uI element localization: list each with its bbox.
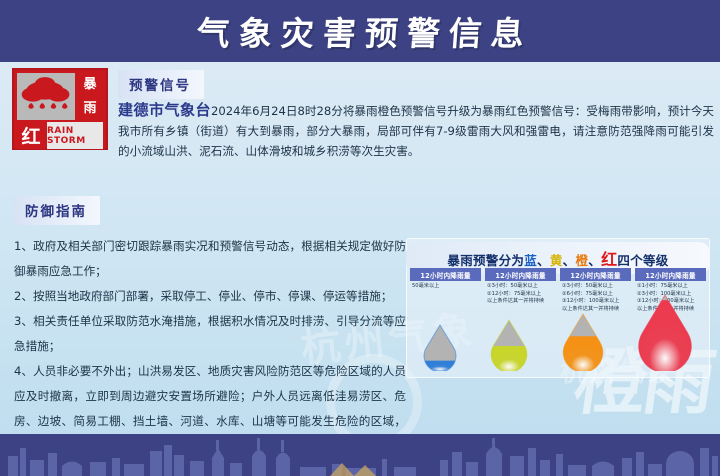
city-skyline-footer bbox=[0, 434, 720, 476]
rainstorm-warning-icon: 暴 雨 红 RAIN STORM bbox=[12, 68, 108, 150]
signal-section-badge: 预警信号 bbox=[118, 70, 204, 99]
guide-badge-label: 防御指南 bbox=[14, 196, 100, 225]
signal-badge-label: 预警信号 bbox=[118, 70, 204, 99]
rainfall-box-header: 12小时内降雨量 bbox=[485, 268, 556, 281]
rainfall-line: 以上条件达其一并将持续 bbox=[487, 298, 555, 306]
skyline-silhouette bbox=[0, 434, 720, 476]
warning-icon-char-yu: 雨 bbox=[83, 102, 96, 115]
warning-icon-top: 暴 雨 bbox=[17, 73, 103, 120]
rainfall-box-header: 12小时内降雨量 bbox=[635, 268, 706, 281]
rainfall-box-yellow: 12小时内降雨量 ①3小时：50毫米以上 ②12小时：75毫米以上 以上条件达其… bbox=[485, 268, 556, 313]
signal-body-text: 建德市气象台2024年6月24日8时28分将暴雨橙色预警信号升级为暴雨红色预警信… bbox=[118, 100, 714, 161]
level-name-blue: 蓝 bbox=[524, 253, 537, 268]
water-drop-red bbox=[637, 294, 693, 371]
rainfall-line: ②12小时：75毫米以上 bbox=[487, 291, 555, 299]
issuer-name: 建德市气象台 bbox=[118, 101, 211, 119]
guide-item-list: 1、政府及相关部门密切跟踪暴雨实况和预警信号动态，根据相关规定做好防御暴雨应急工… bbox=[14, 234, 406, 459]
rainfall-line: ①3小时：50毫米以上 bbox=[487, 283, 555, 291]
water-drop-orange bbox=[562, 313, 604, 371]
warning-icon-english-label: RAIN STORM bbox=[47, 122, 103, 149]
rainfall-line: ①1小时：75毫米以上 bbox=[637, 283, 705, 291]
rainfall-line: ②6小时：75毫米以上 bbox=[562, 291, 630, 299]
guide-item: 3、相关责任单位采取防范水淹措施，根据积水情况及时排涝、引导分流等应急措施； bbox=[14, 309, 406, 359]
guide-item: 2、按照当地政府部门部署，采取停工、停业、停市、停课、停运等措施； bbox=[14, 284, 406, 309]
level-name-yellow: 黄 bbox=[550, 253, 563, 268]
rain-cloud-icon bbox=[17, 73, 75, 120]
levels-title-prefix: 暴雨预警分为 bbox=[447, 253, 524, 268]
rainfall-line: ①3小时：50毫米以上 bbox=[562, 283, 630, 291]
rainfall-box-orange: 12小时内降雨量 ①3小时：50毫米以上 ②6小时：75毫米以上 ③12小时：1… bbox=[560, 268, 631, 313]
rainfall-box-header: 12小时内降雨量 bbox=[560, 268, 631, 281]
guide-section-badge: 防御指南 bbox=[14, 196, 100, 225]
warning-icon-bottom: 红 RAIN STORM bbox=[17, 122, 103, 149]
level-name-red: 红 bbox=[601, 250, 617, 269]
guide-item: 1、政府及相关部门密切跟踪暴雨实况和预警信号动态，根据相关规定做好防御暴雨应急工… bbox=[14, 234, 406, 284]
content-canvas: 杭州气象 杭州气象 橙雨 bbox=[0, 62, 720, 476]
rainfall-box-body: ①3小时：50毫米以上 ②12小时：75毫米以上 以上条件达其一并将持续 bbox=[485, 281, 556, 306]
page-title: 气象灾害预警信息 bbox=[186, 7, 534, 55]
rainfall-line: 50毫米以上 bbox=[412, 283, 480, 291]
warning-icon-label-vertical: 暴 雨 bbox=[77, 73, 103, 120]
water-drop-indicators bbox=[406, 309, 710, 371]
rainfall-box-blue: 12小时内降雨量 50毫米以上 bbox=[410, 268, 481, 313]
water-drop-yellow bbox=[490, 319, 528, 371]
warning-icon-level-char: 红 bbox=[17, 122, 45, 149]
water-drop-blue bbox=[423, 324, 457, 371]
rainfall-box-header: 12小时内降雨量 bbox=[410, 268, 481, 281]
warning-icon-char-bao: 暴 bbox=[83, 78, 96, 91]
level-name-orange: 橙 bbox=[575, 253, 588, 268]
levels-title-suffix: 四个等级 bbox=[617, 253, 668, 268]
rainfall-box-body: 50毫米以上 bbox=[410, 281, 481, 291]
page-header: 气象灾害预警信息 bbox=[0, 0, 720, 62]
rainfall-line: ③12小时：100毫米以上 bbox=[562, 298, 630, 306]
